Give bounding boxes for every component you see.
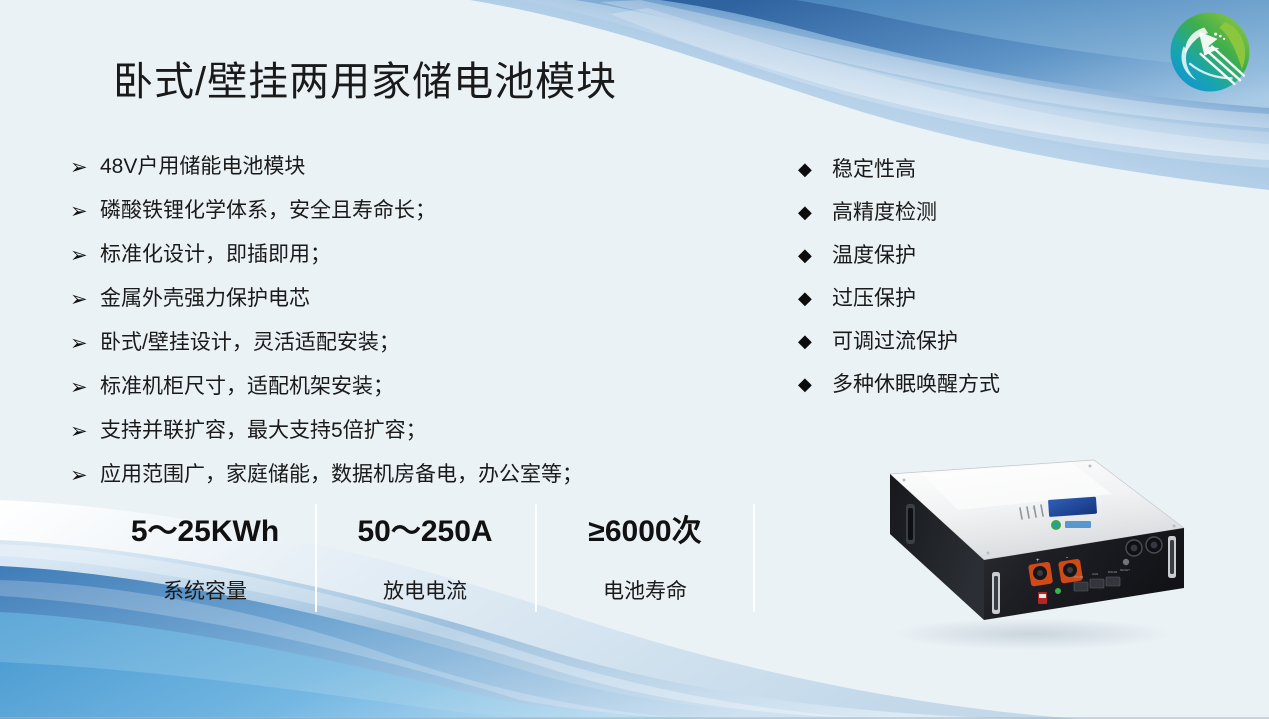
list-item: ◆ 可调过流保护: [798, 327, 1128, 370]
list-item: ➢ 标准机柜尺寸，适配机架安装；: [70, 372, 710, 416]
diamond-bullet-icon: ◆: [798, 198, 832, 227]
stat-label: 电池寿命: [603, 577, 687, 607]
list-item-label: 48V户用储能电池模块: [100, 152, 305, 182]
svg-text:RESET: RESET: [1120, 568, 1130, 572]
list-item-label: 卧式/壁挂设计，灵活适配安装；: [100, 328, 400, 358]
key-specs-row: 5～25KWh 系统容量 50～250A 放电电流 ≥6000次 电池寿命: [95, 512, 755, 622]
list-item-label: 标准机柜尺寸，适配机架安装；: [100, 372, 394, 402]
diamond-bullet-icon: ◆: [798, 327, 832, 356]
list-item-label: 温度保护: [832, 241, 916, 270]
list-item: ➢ 48V户用储能电池模块: [70, 152, 710, 196]
arrow-bullet-icon: ➢: [70, 372, 100, 403]
company-logo: [1163, 5, 1257, 99]
svg-text:CAN: CAN: [1092, 572, 1098, 576]
list-item-label: 标准化设计，即插即用；: [100, 240, 331, 270]
page-title: 卧式/壁挂两用家储电池模块: [113, 57, 617, 107]
stat-system-capacity: 5～25KWh 系统容量: [95, 512, 315, 622]
list-item: ◆ 稳定性高: [798, 155, 1128, 198]
svg-text:RS485: RS485: [1074, 575, 1084, 579]
list-item-label: 过压保护: [832, 284, 916, 313]
arrow-bullet-icon: ➢: [70, 152, 100, 183]
svg-text:+: +: [1036, 558, 1040, 564]
right-feature-list: ◆ 稳定性高 ◆ 高精度检测 ◆ 温度保护 ◆ 过压保护 ◆ 可调过流保护 ◆ …: [798, 155, 1128, 413]
list-item-label: 金属外壳强力保护电芯: [100, 284, 310, 314]
arrow-bullet-icon: ➢: [70, 416, 100, 447]
list-item-label: 高精度检测: [832, 198, 937, 227]
diamond-bullet-icon: ◆: [798, 155, 832, 184]
arrow-bullet-icon: ➢: [70, 284, 100, 315]
list-item: ◆ 过压保护: [798, 284, 1128, 327]
stat-value: 50～250A: [357, 512, 492, 552]
stat-value: 5～25KWh: [131, 512, 279, 552]
diamond-bullet-icon: ◆: [798, 370, 832, 399]
diamond-bullet-icon: ◆: [798, 241, 832, 270]
arrow-bullet-icon: ➢: [70, 328, 100, 359]
arrow-bullet-icon: ➢: [70, 196, 100, 227]
svg-text:RS232: RS232: [1108, 570, 1118, 574]
list-item: ➢ 应用范围广，家庭储能，数据机房备电，办公室等；: [70, 460, 710, 504]
stat-discharge-current: 50～250A 放电电流: [315, 512, 535, 622]
list-item: ➢ 磷酸铁锂化学体系，安全且寿命长；: [70, 196, 710, 240]
stat-value: ≥6000次: [588, 512, 701, 552]
list-item-label: 支持并联扩容，最大支持5倍扩容；: [100, 416, 427, 446]
arrow-bullet-icon: ➢: [70, 460, 100, 491]
stat-label: 系统容量: [163, 577, 247, 607]
list-item-label: 可调过流保护: [832, 327, 958, 356]
list-item: ◆ 高精度检测: [798, 198, 1128, 241]
arrow-bullet-icon: ➢: [70, 240, 100, 271]
list-item: ◆ 多种休眠唤醒方式: [798, 370, 1128, 413]
list-item: ➢ 标准化设计，即插即用；: [70, 240, 710, 284]
svg-text:-: -: [1066, 555, 1068, 561]
battery-module-photo: + - RS485 CAN RS232 RESET: [862, 452, 1192, 652]
list-item-label: 磷酸铁锂化学体系，安全且寿命长；: [100, 196, 436, 226]
stat-label: 放电电流: [383, 577, 467, 607]
left-feature-list: ➢ 48V户用储能电池模块 ➢ 磷酸铁锂化学体系，安全且寿命长； ➢ 标准化设计…: [70, 152, 710, 504]
diamond-bullet-icon: ◆: [798, 284, 832, 313]
list-item: ➢ 卧式/壁挂设计，灵活适配安装；: [70, 328, 710, 372]
list-item: ➢ 金属外壳强力保护电芯: [70, 284, 710, 328]
slide-canvas: 卧式/壁挂两用家储电池模块 ➢ 48V户用储能电池模块 ➢ 磷酸铁锂化学体系，安…: [0, 0, 1269, 719]
list-item-label: 多种休眠唤醒方式: [832, 370, 1000, 399]
list-item-label: 稳定性高: [832, 155, 916, 184]
stat-battery-life: ≥6000次 电池寿命: [535, 512, 755, 622]
list-item: ◆ 温度保护: [798, 241, 1128, 284]
list-item: ➢ 支持并联扩容，最大支持5倍扩容；: [70, 416, 710, 460]
list-item-label: 应用范围广，家庭储能，数据机房备电，办公室等；: [100, 460, 583, 490]
